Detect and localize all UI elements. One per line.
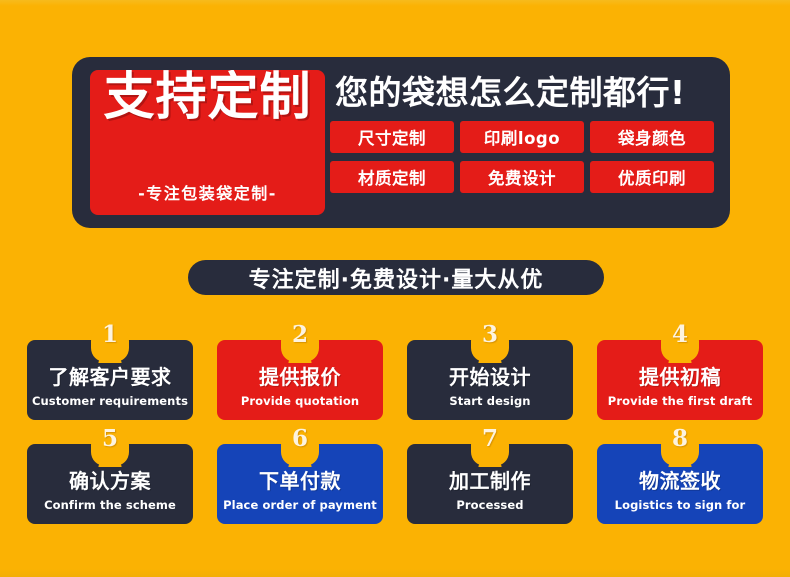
step-number-notch-3: 3 [471,322,509,362]
step-title-cn-5: 确认方案 [69,465,151,494]
step-card-5[interactable]: 5 确认方案 Confirm the scheme [27,444,193,524]
step-number-8: 8 [672,426,688,452]
tag-quality-print[interactable]: 优质印刷 [590,161,714,193]
tag-size-custom[interactable]: 尺寸定制 [330,121,454,153]
step-number-7: 7 [482,426,498,452]
step-number-notch-2: 2 [281,322,319,362]
step-number-notch-5: 5 [91,426,129,466]
custom-support-panel: 支持定制 -专注包装袋定制- 您的袋想怎么定制都行! 尺寸定制 印刷logo 袋… [72,57,730,228]
badge-main-text: 支持定制 [90,72,325,124]
step-card-7[interactable]: 7 加工制作 Processed [407,444,573,524]
tag-bag-color[interactable]: 袋身颜色 [590,121,714,153]
customization-tag-grid: 尺寸定制 印刷logo 袋身颜色 材质定制 免费设计 优质印刷 [330,121,718,193]
step-card-1[interactable]: 1 了解客户要求 Customer requirements [27,340,193,420]
tag-free-design[interactable]: 免费设计 [460,161,584,193]
step-title-cn-2: 提供报价 [259,361,341,390]
step-title-cn-7: 加工制作 [449,465,531,494]
step-card-6[interactable]: 6 下单付款 Place order of payment [217,444,383,524]
step-number-1: 1 [102,322,118,348]
step-card-4[interactable]: 4 提供初稿 Provide the first draft [597,340,763,420]
step-card-3[interactable]: 3 开始设计 Start design [407,340,573,420]
step-number-notch-6: 6 [281,426,319,466]
step-title-en-3: Start design [449,394,530,408]
step-number-notch-8: 8 [661,426,699,466]
tag-material-custom[interactable]: 材质定制 [330,161,454,193]
step-title-en-1: Customer requirements [32,394,188,408]
badge-sub-text: -专注包装袋定制- [90,180,325,204]
promo-banner-page: 支持定制 -专注包装袋定制- 您的袋想怎么定制都行! 尺寸定制 印刷logo 袋… [0,0,790,577]
step-number-5: 5 [102,426,118,452]
support-customization-badge: 支持定制 -专注包装袋定制- [90,70,325,215]
step-number-notch-1: 1 [91,322,129,362]
step-title-cn-1: 了解客户要求 [49,361,172,390]
step-number-6: 6 [292,426,308,452]
step-number-4: 4 [672,322,688,348]
step-card-2[interactable]: 2 提供报价 Provide quotation [217,340,383,420]
step-title-en-7: Processed [456,498,523,512]
step-title-en-8: Logistics to sign for [615,498,746,512]
step-number-2: 2 [292,322,308,348]
step-title-en-5: Confirm the scheme [44,498,176,512]
step-title-en-6: Place order of payment [223,498,377,512]
panel-headline: 您的袋想怎么定制都行! [335,67,720,119]
step-title-cn-8: 物流签收 [639,465,721,494]
process-steps-grid: 1 了解客户要求 Customer requirements 2 提供报价 Pr… [27,340,763,524]
slogan-banner: 专注定制·免费设计·量大从优 [188,260,604,295]
step-title-cn-3: 开始设计 [449,361,531,390]
step-number-3: 3 [482,322,498,348]
step-title-en-4: Provide the first draft [608,394,752,408]
step-title-cn-4: 提供初稿 [639,361,721,390]
step-title-cn-6: 下单付款 [259,465,341,494]
step-title-en-2: Provide quotation [241,394,359,408]
step-number-notch-4: 4 [661,322,699,362]
step-card-8[interactable]: 8 物流签收 Logistics to sign for [597,444,763,524]
step-number-notch-7: 7 [471,426,509,466]
tag-print-logo[interactable]: 印刷logo [460,121,584,153]
